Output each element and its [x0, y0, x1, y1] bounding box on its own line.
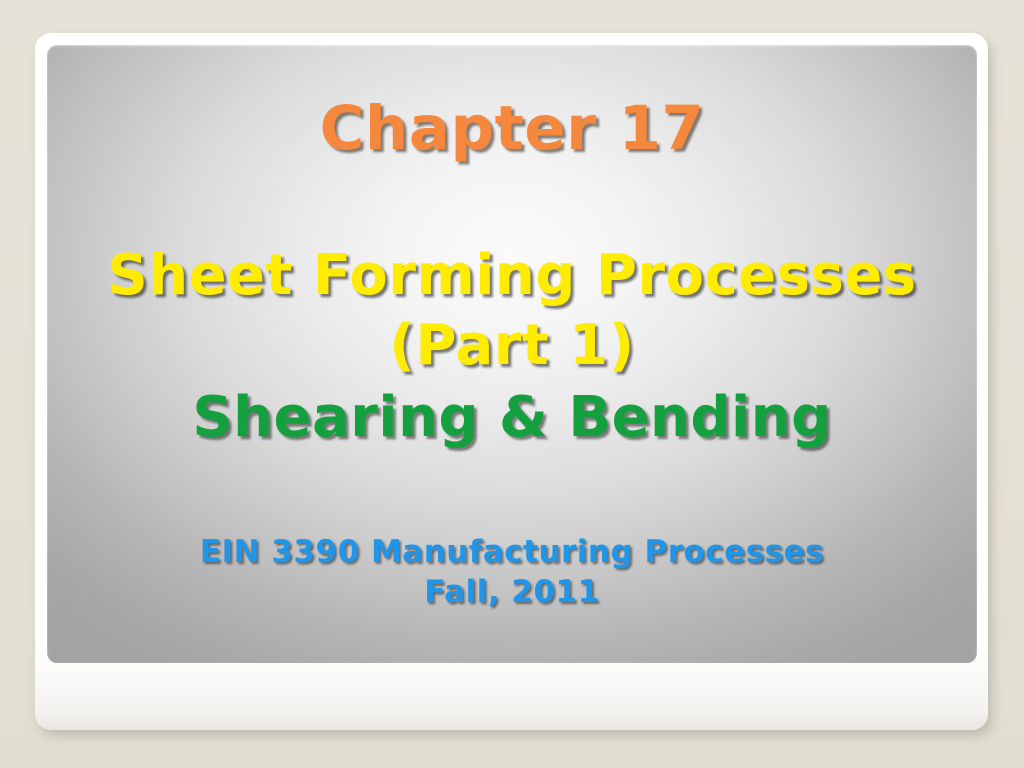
slide-content-panel: Chapter 17 Sheet Forming Processes (Part…: [47, 45, 977, 663]
slide-root: Chapter 17 Sheet Forming Processes (Part…: [0, 0, 1024, 768]
slide-title-line-1: Sheet Forming Processes: [47, 243, 977, 309]
slide-title-line-2: (Part 1): [47, 313, 977, 379]
slide-card-footer: [47, 665, 977, 720]
chapter-heading: Chapter 17: [47, 95, 977, 163]
slide-text-stack: Chapter 17 Sheet Forming Processes (Part…: [47, 45, 977, 663]
slide-card: Chapter 17 Sheet Forming Processes (Part…: [35, 33, 988, 730]
course-subtitle-line-2: Fall, 2011: [47, 572, 977, 612]
slide-title-line-3: Shearing & Bending: [47, 385, 977, 451]
course-subtitle-line-1: EIN 3390 Manufacturing Processes: [47, 532, 977, 572]
